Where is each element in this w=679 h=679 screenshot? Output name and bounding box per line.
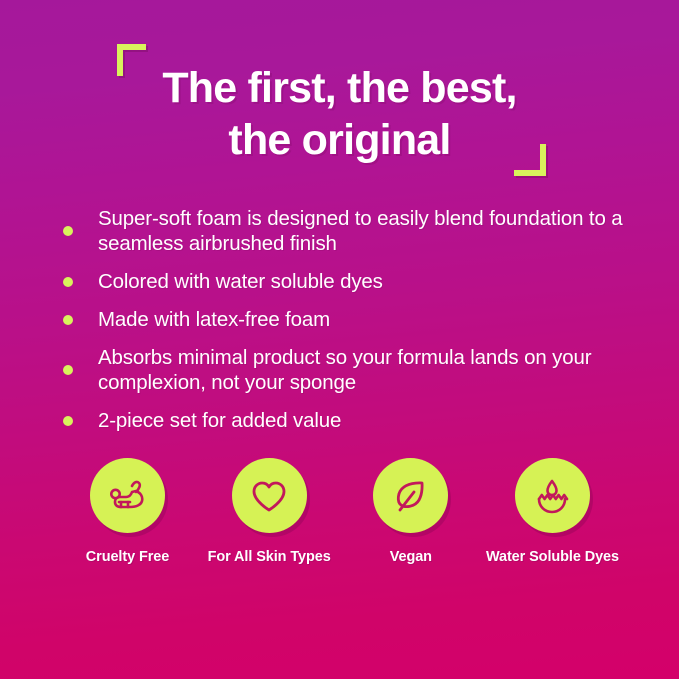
list-item: 2-piece set for added value — [63, 408, 623, 433]
water-drop-icon — [528, 472, 576, 520]
badge-vegan: Vegan — [343, 458, 478, 568]
bullet-dot-icon — [63, 315, 73, 325]
badge-water-soluble-dyes: Water Soluble Dyes — [485, 458, 620, 568]
list-item: Super-soft foam is designed to easily bl… — [63, 206, 623, 256]
bullet-dot-icon — [63, 365, 73, 375]
feature-text: Colored with water soluble dyes — [98, 269, 383, 294]
badge-label: Vegan — [390, 548, 432, 568]
rabbit-icon — [104, 472, 152, 520]
leaf-icon — [387, 472, 435, 520]
badge-label: Water Soluble Dyes — [486, 548, 619, 568]
badge-circle — [232, 458, 307, 533]
badge-cruelty-free: Cruelty Free — [60, 458, 195, 568]
list-item: Absorbs minimal product so your formula … — [63, 345, 623, 395]
badge-label: Cruelty Free — [86, 548, 169, 568]
headline-line-2: the original — [0, 114, 679, 166]
headline-line-1: The first, the best, — [0, 62, 679, 114]
feature-list: Super-soft foam is designed to easily bl… — [63, 206, 623, 446]
bullet-dot-icon — [63, 277, 73, 287]
badge-for-all-skin-types: For All Skin Types — [202, 458, 337, 568]
bullet-dot-icon — [63, 226, 73, 236]
badge-label: For All Skin Types — [208, 548, 331, 568]
list-item: Made with latex-free foam — [63, 307, 623, 332]
badge-row: Cruelty Free For All Skin Types Vegan — [60, 458, 620, 568]
product-feature-poster: The first, the best, the original Super-… — [0, 0, 679, 679]
badge-circle — [373, 458, 448, 533]
feature-text: 2-piece set for added value — [98, 408, 341, 433]
feature-text: Super-soft foam is designed to easily bl… — [98, 206, 623, 256]
badge-circle — [90, 458, 165, 533]
badge-circle — [515, 458, 590, 533]
page-title: The first, the best, the original — [0, 62, 679, 167]
feature-text: Made with latex-free foam — [98, 307, 330, 332]
feature-text: Absorbs minimal product so your formula … — [98, 345, 623, 395]
list-item: Colored with water soluble dyes — [63, 269, 623, 294]
heart-icon — [245, 472, 293, 520]
bullet-dot-icon — [63, 416, 73, 426]
